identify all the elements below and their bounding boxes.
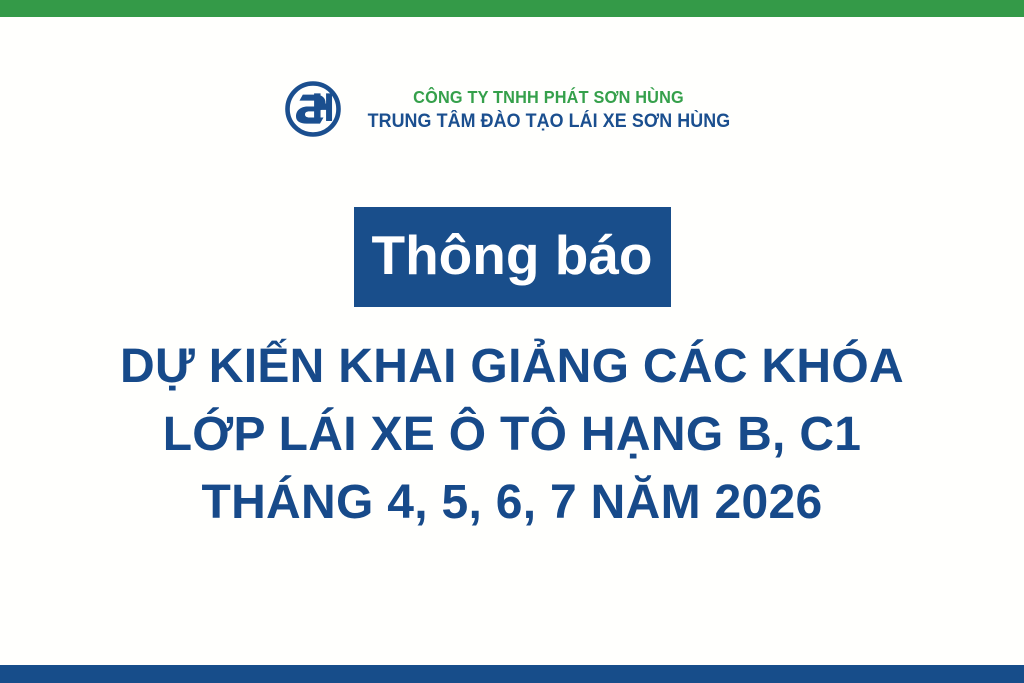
notice-badge-label: Thông báo bbox=[371, 228, 652, 287]
sh-monogram-logo-icon bbox=[282, 80, 344, 140]
notice-badge-row: Thông báo bbox=[0, 207, 1024, 307]
announcement-poster: CÔNG TY TNHH PHÁT SƠN HÙNG TRUNG TÂM ĐÀO… bbox=[0, 0, 1024, 683]
logo-header: CÔNG TY TNHH PHÁT SƠN HÙNG TRUNG TÂM ĐÀO… bbox=[0, 80, 1024, 140]
headline: DỰ KIẾN KHAI GIẢNG CÁC KHÓA LỚP LÁI XE Ô… bbox=[0, 333, 1024, 537]
notice-badge: Thông báo bbox=[354, 207, 671, 307]
headline-line-3: THÁNG 4, 5, 6, 7 NĂM 2026 bbox=[0, 469, 1024, 537]
logo-text-block: CÔNG TY TNHH PHÁT SƠN HÙNG TRUNG TÂM ĐÀO… bbox=[356, 89, 742, 131]
headline-line-2: LỚP LÁI XE Ô TÔ HẠNG B, C1 bbox=[0, 401, 1024, 469]
training-center-name: TRUNG TÂM ĐÀO TẠO LÁI XE SƠN HÙNG bbox=[368, 112, 731, 131]
headline-line-1: DỰ KIẾN KHAI GIẢNG CÁC KHÓA bbox=[0, 333, 1024, 401]
bottom-accent-bar bbox=[0, 665, 1024, 683]
company-name: CÔNG TY TNHH PHÁT SƠN HÙNG bbox=[414, 89, 685, 107]
top-accent-bar bbox=[0, 0, 1024, 17]
